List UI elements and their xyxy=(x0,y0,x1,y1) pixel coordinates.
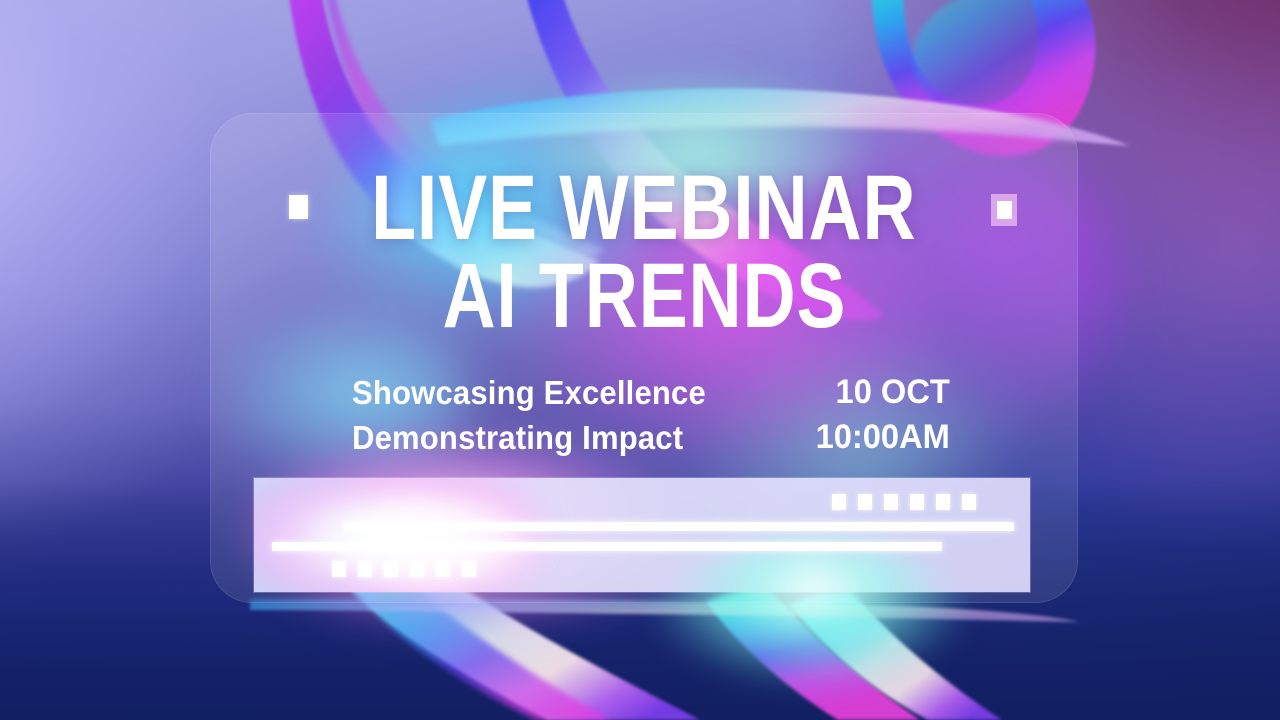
poster-title-line-2: AI TRENDS xyxy=(442,252,846,340)
panel-dot xyxy=(962,494,976,510)
poster-title-line-1: LIVE WEBINAR xyxy=(371,166,916,251)
panel-dot xyxy=(936,494,950,510)
panel-bar-line-2 xyxy=(272,542,942,551)
panel-bar-line-1 xyxy=(344,522,1014,531)
panel-dot-row-bottom xyxy=(332,561,476,577)
poster-canvas: LIVE WEBINAR AI TRENDS Showcasing Excell… xyxy=(0,0,1280,720)
bottom-info-panel xyxy=(254,478,1030,592)
title-line-1-row: LIVE WEBINAR xyxy=(210,158,1078,258)
event-date: 10 OCT xyxy=(816,370,950,415)
poster-title-line-2-row: AI TRENDS xyxy=(210,252,1078,340)
panel-dot-row-top xyxy=(832,494,976,510)
panel-dot xyxy=(332,561,346,577)
panel-dot xyxy=(910,494,924,510)
panel-dot xyxy=(410,561,424,577)
panel-dot xyxy=(436,561,450,577)
subtitle-line-1: Showcasing Excellence xyxy=(352,370,706,415)
panel-dot xyxy=(462,561,476,577)
panel-dot xyxy=(884,494,898,510)
subtitle-line-2: Demonstrating Impact xyxy=(352,415,706,460)
event-time: 10:00AM xyxy=(816,415,950,460)
subtitle-block: Showcasing Excellence Demonstrating Impa… xyxy=(352,370,729,460)
panel-dot xyxy=(832,494,846,510)
panel-dot xyxy=(858,494,872,510)
subtitle-date-row: Showcasing Excellence Demonstrating Impa… xyxy=(352,370,952,460)
panel-dot xyxy=(384,561,398,577)
panel-dot xyxy=(358,561,372,577)
datetime-block: 10 OCT 10:00AM xyxy=(810,370,952,460)
